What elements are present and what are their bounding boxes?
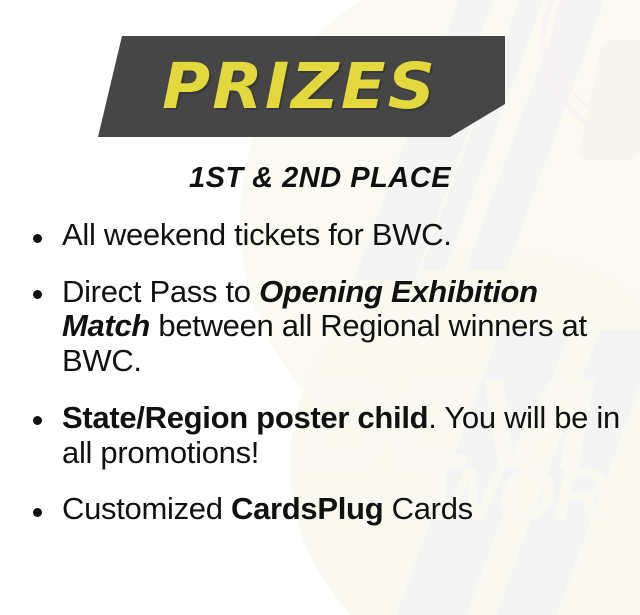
- prize-list: All weekend tickets for BWC. Direct Pass…: [24, 218, 624, 527]
- place-subtitle: 1ST & 2ND PLACE: [0, 162, 640, 195]
- bullet-icon: [33, 416, 42, 425]
- bullet-icon: [33, 290, 42, 299]
- prize-text: All weekend tickets for BWC.: [62, 217, 452, 252]
- prize-text: Direct Pass to Opening Exhibition Match …: [62, 274, 587, 378]
- list-item: State/Region poster child. You will be i…: [24, 401, 624, 470]
- list-item: Direct Pass to Opening Exhibition Match …: [24, 275, 624, 379]
- prize-text: State/Region poster child. You will be i…: [62, 400, 620, 470]
- prize-text: Customized CardsPlug Cards: [62, 491, 473, 526]
- bullet-icon: [33, 234, 42, 243]
- list-item: Customized CardsPlug Cards: [24, 492, 624, 527]
- bullet-icon: [33, 508, 42, 517]
- page-title: PRIZES: [82, 34, 514, 139]
- list-item: All weekend tickets for BWC.: [24, 218, 624, 253]
- prizes-banner: PRIZES: [90, 34, 505, 139]
